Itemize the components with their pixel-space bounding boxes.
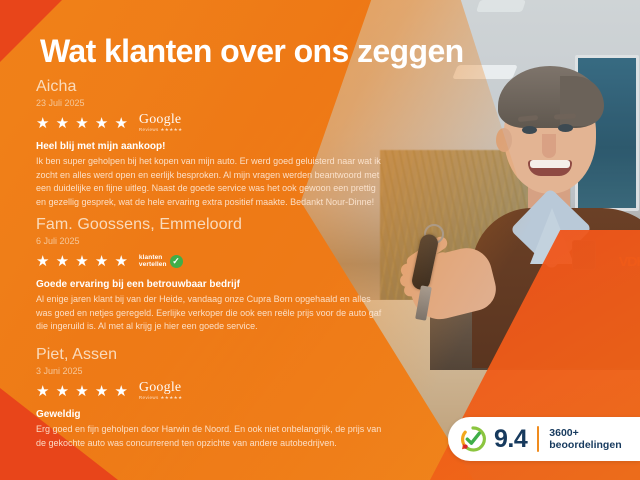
google-reviews-logo: Google Reviews ★★★★★ [139,113,183,133]
review-rating-row: ★ ★ ★ ★ ★ klanten vertellen ✓ [36,251,396,271]
klantenvertellen-logo: klanten vertellen ✓ [139,254,183,269]
content-layer: Wat klanten over ons zeggen Aicha 23 Jul… [0,0,640,480]
klantenvertellen-line2: vertellen [139,261,167,269]
rating-count: 3600+ [549,427,621,439]
reviewer-name: Piet, Assen [36,346,396,364]
review-title: Geweldig [36,408,396,421]
rating-badge[interactable]: 9.4 3600+ beoordelingen [448,417,640,461]
review-rating-row: ★ ★ ★ ★ ★ Google Reviews ★★★★★ [36,113,396,133]
reviewer-name: Aicha [36,78,396,96]
google-reviews-subtitle: Reviews ★★★★★ [139,396,183,401]
rating-label: beoordelingen [549,439,621,451]
promo-banner: VDH Wat klanten over ons zeggen Aicha 23… [0,0,640,480]
review-title: Goede ervaring bij een betrouwbaar bedri… [36,278,396,291]
review-date: 6 Juli 2025 [36,235,396,248]
page-title: Wat klanten over ons zeggen [40,33,464,70]
rating-count-block: 3600+ beoordelingen [549,427,621,451]
check-circle-icon: ✓ [170,255,183,268]
reviewer-name: Fam. Goossens, Emmeloord [36,216,396,234]
review-title: Heel blij met mijn aankoop! [36,140,396,153]
google-reviews-logo: Google Reviews ★★★★★ [139,381,183,401]
review-date: 3 Juni 2025 [36,365,396,378]
klantenvertellen-seal-icon [460,426,486,452]
review-rating-row: ★ ★ ★ ★ ★ Google Reviews ★★★★★ [36,381,396,401]
review-card: Piet, Assen 3 Juni 2025 ★ ★ ★ ★ ★ Google… [36,346,396,450]
google-wordmark: Google [139,113,181,127]
google-reviews-subtitle: Reviews ★★★★★ [139,128,183,133]
star-rating: ★ ★ ★ ★ ★ [36,384,129,399]
review-body: Erg goed en fijn geholpen door Harwin de… [36,423,388,450]
rating-score: 9.4 [494,425,527,454]
klantenvertellen-wordmark: klanten vertellen [139,254,167,269]
google-wordmark: Google [139,381,181,395]
review-card: Aicha 23 Juli 2025 ★ ★ ★ ★ ★ Google Revi… [36,78,396,209]
star-rating: ★ ★ ★ ★ ★ [36,116,129,131]
review-card: Fam. Goossens, Emmeloord 6 Juli 2025 ★ ★… [36,216,396,334]
klantenvertellen-line1: klanten [139,254,167,262]
star-rating: ★ ★ ★ ★ ★ [36,254,129,269]
review-body: Ik ben super geholpen bij het kopen van … [36,155,388,209]
rating-divider [537,426,539,452]
review-body: Al enige jaren klant bij van der Heide, … [36,293,388,334]
review-date: 23 Juli 2025 [36,97,396,110]
